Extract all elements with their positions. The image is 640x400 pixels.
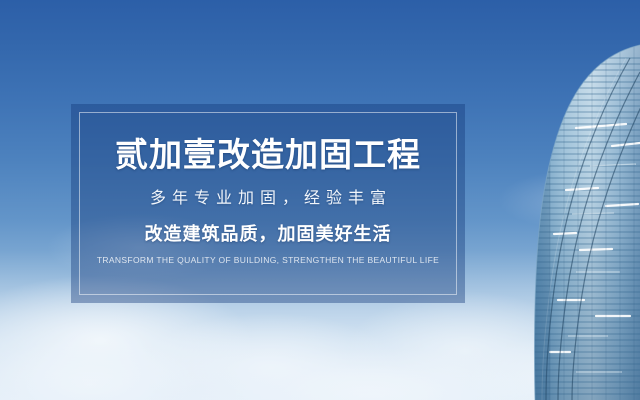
panel-content: 贰加壹改造加固工程 多年专业加固，经验丰富 改造建筑品质，加固美好生活 TRAN… — [71, 104, 465, 303]
subtitle: 多年专业加固，经验丰富 — [144, 191, 392, 207]
slogan: 改造建筑品质，加固美好生活 — [145, 225, 392, 243]
banner-image: 贰加壹改造加固工程 多年专业加固，经验丰富 改造建筑品质，加固美好生活 TRAN… — [0, 0, 640, 400]
page-title: 贰加壹改造加固工程 — [115, 138, 421, 171]
english-tagline: TRANSFORM THE QUALITY OF BUILDING, STREN… — [97, 256, 439, 265]
skyscraper-photo — [480, 0, 640, 400]
hero-text-panel: 贰加壹改造加固工程 多年专业加固，经验丰富 改造建筑品质，加固美好生活 TRAN… — [71, 104, 465, 303]
skyscraper-illustration — [480, 0, 640, 400]
